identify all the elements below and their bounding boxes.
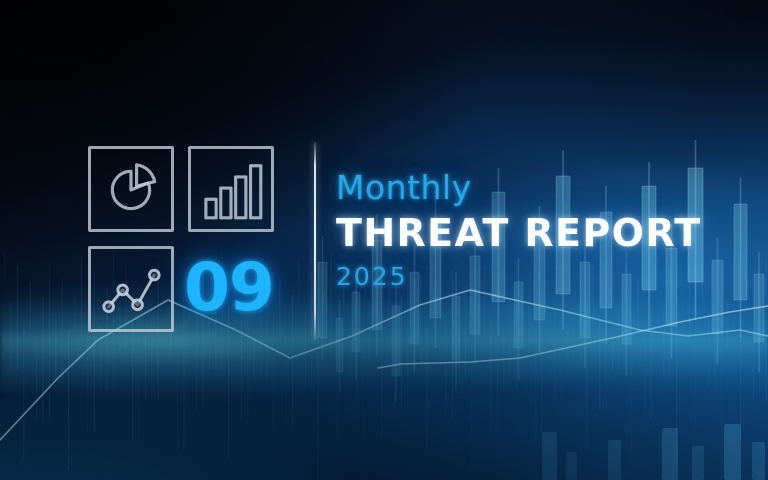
line-chart-icon: [91, 249, 171, 329]
vertical-divider: [314, 142, 316, 340]
threat-report-poster: 09 Monthly THREAT REPORT 2025: [0, 0, 768, 480]
year-text: 2025: [336, 263, 756, 291]
title-block: Monthly THREAT REPORT 2025: [336, 170, 756, 290]
analytics-icon-grid: 09: [88, 146, 278, 332]
month-number: 09: [184, 242, 280, 334]
bar-chart-icon: [191, 149, 271, 229]
line-chart-icon-box: [88, 246, 174, 332]
pie-chart-icon-box: [88, 146, 174, 232]
page-title: THREAT REPORT: [336, 211, 756, 256]
bar-chart-icon-box: [188, 146, 274, 232]
eyebrow-text: Monthly: [336, 170, 756, 207]
poster-content: 09 Monthly THREAT REPORT 2025: [0, 0, 768, 480]
pie-chart-icon: [91, 149, 171, 229]
